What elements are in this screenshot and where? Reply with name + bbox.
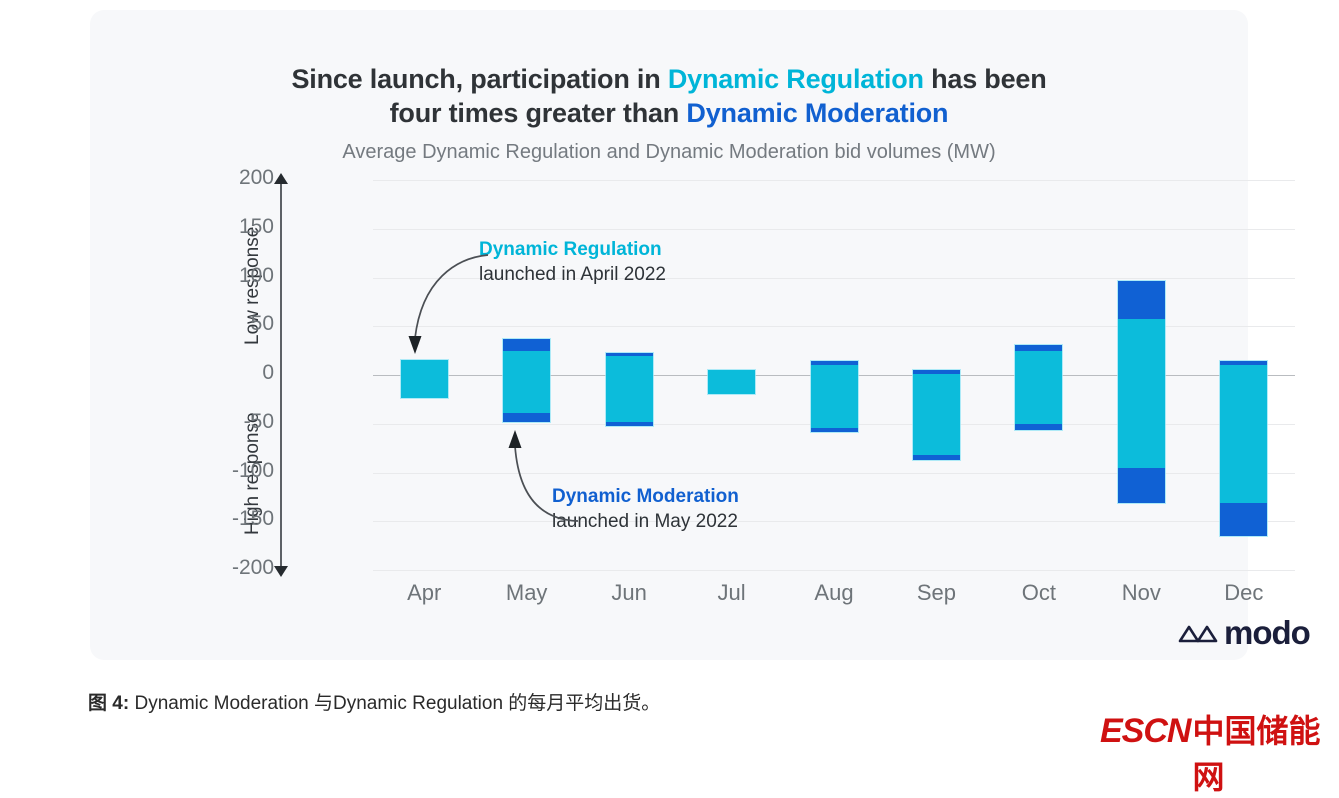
x-axis-tick-label-apr: Apr bbox=[369, 580, 479, 606]
bar-cap-top-oct bbox=[1015, 345, 1062, 351]
bar-aug[interactable] bbox=[811, 361, 858, 431]
watermark-chinese-text: 中国储能网 bbox=[1192, 706, 1339, 798]
bar-cap-top-dec bbox=[1220, 361, 1267, 365]
x-axis-tick-label-jun: Jun bbox=[574, 580, 684, 606]
figure-caption-text: Dynamic Moderation 与Dynamic Regulation 的… bbox=[129, 693, 660, 714]
y-axis-tick-label: -100 bbox=[208, 459, 274, 483]
chart-title-line2: four times greater than Dynamic Moderati… bbox=[390, 98, 949, 128]
bar-may[interactable] bbox=[503, 339, 550, 422]
x-axis-tick-label-oct: Oct bbox=[984, 580, 1094, 606]
bar-cap-top-may bbox=[503, 339, 550, 351]
bar-cap-bottom-jun bbox=[606, 422, 653, 426]
escn-watermark: ESCN 中国储能网 bbox=[1100, 706, 1339, 798]
bar-cap-bottom-sep bbox=[913, 455, 960, 460]
bar-nov[interactable] bbox=[1118, 281, 1165, 502]
annotation-regulation-title: Dynamic Regulation bbox=[479, 237, 666, 262]
bar-oct[interactable] bbox=[1015, 345, 1062, 430]
chart-title-text-1: Since launch, participation in bbox=[291, 64, 667, 94]
modo-logo: modo bbox=[1178, 616, 1310, 649]
gridline bbox=[373, 180, 1295, 181]
curved-arrow-down-left-icon bbox=[396, 250, 496, 360]
gridline bbox=[373, 570, 1295, 571]
y-axis-tick-label: 200 bbox=[208, 166, 274, 190]
chart-title-highlight-moderation: Dynamic Moderation bbox=[686, 98, 948, 128]
chart-title-highlight-regulation: Dynamic Regulation bbox=[668, 64, 924, 94]
chart-subtitle: Average Dynamic Regulation and Dynamic M… bbox=[90, 141, 1248, 164]
figure-caption-label: 图 4: bbox=[88, 693, 129, 714]
figure-card: Since launch, participation in Dynamic R… bbox=[90, 10, 1248, 660]
x-axis-tick-label-jul: Jul bbox=[677, 580, 787, 606]
bar-cap-top-aug bbox=[811, 361, 858, 365]
watermark-latin-text: ESCN bbox=[1100, 712, 1190, 751]
y-axis-tick-label: -150 bbox=[208, 507, 274, 531]
x-axis-tick-label-nov: Nov bbox=[1086, 580, 1196, 606]
bar-cap-top-nov bbox=[1118, 281, 1165, 319]
chart-title: Since launch, participation in Dynamic R… bbox=[90, 62, 1248, 130]
x-axis-tick-label-dec: Dec bbox=[1189, 580, 1299, 606]
bar-dec[interactable] bbox=[1220, 361, 1267, 536]
bar-cap-bottom-aug bbox=[811, 428, 858, 432]
bar-sep[interactable] bbox=[913, 370, 960, 460]
chart-title-text-3: four times greater than bbox=[390, 98, 687, 128]
chart-title-line1: Since launch, participation in Dynamic R… bbox=[291, 64, 1046, 94]
gridline bbox=[373, 229, 1295, 230]
x-axis-tick-label-may: May bbox=[472, 580, 582, 606]
modo-mountain-mark-icon bbox=[1178, 621, 1220, 645]
bar-cap-top-jun bbox=[606, 353, 653, 357]
axis-arrow-down-icon bbox=[274, 566, 288, 577]
y-axis-tick-label: -200 bbox=[208, 556, 274, 580]
bar-cap-bottom-oct bbox=[1015, 424, 1062, 430]
bar-apr[interactable] bbox=[401, 360, 448, 398]
x-axis-tick-label-sep: Sep bbox=[881, 580, 991, 606]
curved-arrow-up-left-icon bbox=[500, 428, 590, 528]
annotation-dynamic-regulation-launch: Dynamic Regulation launched in April 202… bbox=[479, 237, 666, 288]
modo-wordmark: modo bbox=[1224, 616, 1310, 649]
figure-caption: 图 4: Dynamic Moderation 与Dynamic Regulat… bbox=[88, 688, 660, 715]
chart-title-text-2: has been bbox=[924, 64, 1047, 94]
annotation-regulation-subtitle: launched in April 2022 bbox=[479, 262, 666, 288]
bar-cap-top-sep bbox=[913, 370, 960, 374]
axis-arrow-up-icon bbox=[274, 173, 288, 184]
bar-cap-bottom-dec bbox=[1220, 503, 1267, 536]
bar-cap-bottom-may bbox=[503, 413, 550, 422]
y-axis-line bbox=[280, 182, 282, 568]
bar-jul[interactable] bbox=[708, 370, 755, 393]
y-axis-tick-label: 150 bbox=[208, 215, 274, 239]
y-axis-tick-label: 0 bbox=[208, 361, 274, 385]
x-axis-tick-label-aug: Aug bbox=[779, 580, 889, 606]
y-axis-tick-label: 100 bbox=[208, 264, 274, 288]
y-axis-tick-label: 50 bbox=[208, 312, 274, 336]
bar-jun[interactable] bbox=[606, 353, 653, 426]
y-axis-tick-label: -50 bbox=[208, 410, 274, 434]
bar-cap-bottom-nov bbox=[1118, 468, 1165, 503]
